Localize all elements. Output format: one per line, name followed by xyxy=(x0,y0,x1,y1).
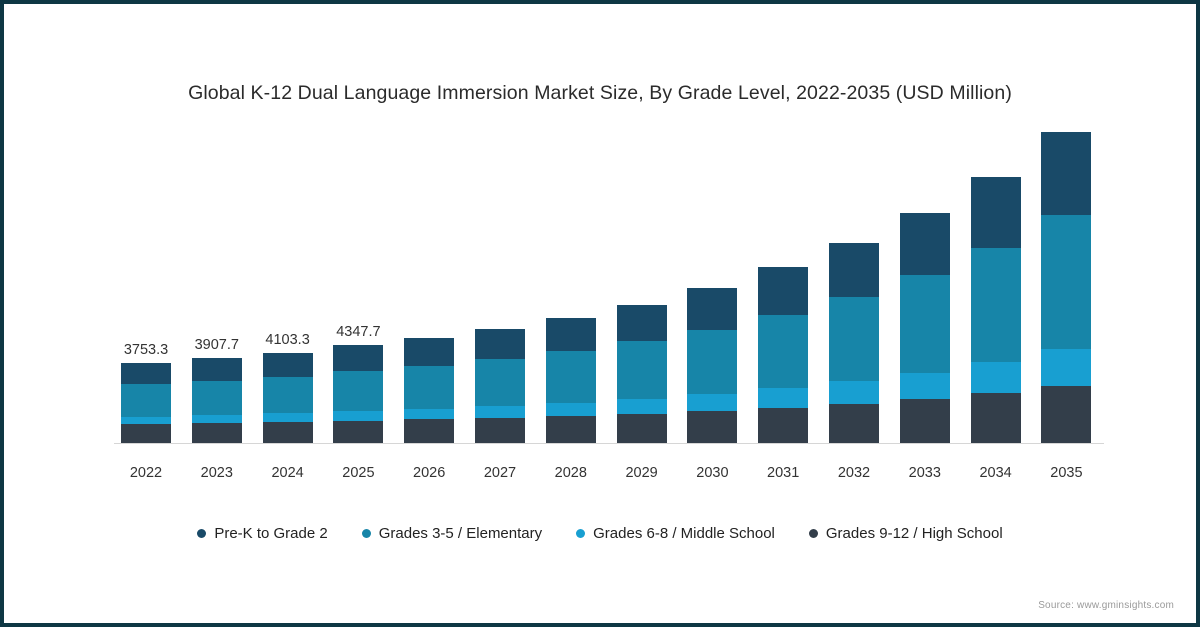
bar-segment[interactable] xyxy=(829,297,879,382)
bar-group-2025[interactable]: 4347.7 xyxy=(333,345,383,444)
bar-segment[interactable] xyxy=(687,330,737,395)
bar-segment[interactable] xyxy=(333,421,383,444)
bar-group-2023[interactable]: 3907.7 xyxy=(192,358,242,444)
bar-segment[interactable] xyxy=(900,275,950,373)
bar-segment[interactable] xyxy=(475,418,525,444)
bar-segment[interactable] xyxy=(971,393,1021,444)
bar-segment[interactable] xyxy=(404,338,454,366)
bar-segment[interactable] xyxy=(192,415,242,423)
x-tick-2022: 2022 xyxy=(111,465,181,481)
bar-segment[interactable] xyxy=(617,414,667,444)
bar-segment[interactable] xyxy=(333,345,383,371)
bar-segment[interactable] xyxy=(546,416,596,444)
bar-segment[interactable] xyxy=(617,341,667,399)
bar-segment[interactable] xyxy=(829,243,879,297)
legend-item-0[interactable]: Pre-K to Grade 2 xyxy=(197,525,327,542)
stacked-bar[interactable] xyxy=(1041,132,1091,444)
stacked-bar[interactable] xyxy=(758,267,808,444)
bar-value-label: 4103.3 xyxy=(265,332,309,348)
page-title: Global K-12 Dual Language Immersion Mark… xyxy=(4,82,1196,105)
stacked-bar[interactable] xyxy=(617,305,667,444)
plot-area: 3753.33907.74103.34347.7 xyxy=(114,124,1104,444)
x-axis-tick-labels: 2022202320242025202620272028202920302031… xyxy=(114,465,1104,487)
bar-group-2027[interactable] xyxy=(475,329,525,444)
bar-segment[interactable] xyxy=(758,388,808,407)
bar-segment[interactable] xyxy=(758,408,808,444)
x-tick-2035: 2035 xyxy=(1031,465,1101,481)
x-tick-2028: 2028 xyxy=(536,465,606,481)
legend-swatch-icon xyxy=(809,529,818,538)
bar-segment[interactable] xyxy=(263,353,313,377)
x-tick-2027: 2027 xyxy=(465,465,535,481)
bar-segment[interactable] xyxy=(829,404,879,444)
chart-frame: Global K-12 Dual Language Immersion Mark… xyxy=(0,0,1200,627)
stacked-bar[interactable] xyxy=(546,318,596,444)
legend-item-3[interactable]: Grades 9-12 / High School xyxy=(809,525,1003,542)
bar-segment[interactable] xyxy=(617,305,667,342)
legend-label: Grades 3-5 / Elementary xyxy=(379,525,542,542)
stacked-bar[interactable]: 4103.3 xyxy=(263,353,313,444)
stacked-bar[interactable] xyxy=(687,288,737,444)
stacked-bar[interactable] xyxy=(475,329,525,444)
bar-group-2028[interactable] xyxy=(546,318,596,444)
x-tick-2023: 2023 xyxy=(182,465,252,481)
bar-segment[interactable] xyxy=(475,406,525,418)
bar-segment[interactable] xyxy=(192,358,242,381)
bar-group-2033[interactable] xyxy=(900,213,950,444)
bar-segment[interactable] xyxy=(546,403,596,416)
chart-legend: Pre-K to Grade 2Grades 3-5 / ElementaryG… xyxy=(4,525,1196,542)
x-tick-2033: 2033 xyxy=(890,465,960,481)
bar-segment[interactable] xyxy=(971,248,1021,362)
stacked-bar[interactable] xyxy=(971,177,1021,444)
x-tick-2025: 2025 xyxy=(323,465,393,481)
bar-segment[interactable] xyxy=(1041,215,1091,349)
bar-group-2029[interactable] xyxy=(617,305,667,444)
legend-label: Grades 6-8 / Middle School xyxy=(593,525,775,542)
bar-segment[interactable] xyxy=(475,359,525,406)
bar-segment[interactable] xyxy=(121,384,171,416)
bar-segment[interactable] xyxy=(1041,349,1091,386)
bar-segment[interactable] xyxy=(900,213,950,275)
stacked-bar[interactable]: 3753.3 xyxy=(121,363,171,444)
bar-segment[interactable] xyxy=(121,363,171,384)
legend-label: Grades 9-12 / High School xyxy=(826,525,1003,542)
bar-group-2024[interactable]: 4103.3 xyxy=(263,353,313,444)
bar-group-2032[interactable] xyxy=(829,243,879,444)
bar-segment[interactable] xyxy=(404,409,454,420)
stacked-bar[interactable] xyxy=(900,213,950,444)
bar-segment[interactable] xyxy=(546,318,596,351)
bar-segment[interactable] xyxy=(971,177,1021,248)
x-tick-2030: 2030 xyxy=(677,465,747,481)
bar-segment[interactable] xyxy=(404,366,454,409)
bar-segment[interactable] xyxy=(121,417,171,425)
bar-segment[interactable] xyxy=(1041,132,1091,215)
stacked-bar[interactable]: 4347.7 xyxy=(333,345,383,444)
x-tick-2032: 2032 xyxy=(819,465,889,481)
bar-segment[interactable] xyxy=(758,315,808,389)
bar-segment[interactable] xyxy=(900,373,950,399)
x-tick-2024: 2024 xyxy=(253,465,323,481)
bar-segment[interactable] xyxy=(192,423,242,444)
bar-segment[interactable] xyxy=(687,411,737,444)
bar-segment[interactable] xyxy=(263,422,313,444)
chart-canvas: Global K-12 Dual Language Immersion Mark… xyxy=(4,4,1196,623)
bar-segment[interactable] xyxy=(687,288,737,329)
bar-segment[interactable] xyxy=(404,419,454,444)
x-tick-2034: 2034 xyxy=(961,465,1031,481)
bar-segment[interactable] xyxy=(971,362,1021,393)
x-tick-2026: 2026 xyxy=(394,465,464,481)
bar-value-label: 4347.7 xyxy=(336,324,380,340)
bar-segment[interactable] xyxy=(333,371,383,410)
stacked-bar[interactable]: 3907.7 xyxy=(192,358,242,444)
bar-segment[interactable] xyxy=(687,394,737,411)
bar-group-2026[interactable] xyxy=(404,338,454,444)
bar-segment[interactable] xyxy=(617,399,667,414)
bar-segment[interactable] xyxy=(121,424,171,444)
bar-group-2030[interactable] xyxy=(687,288,737,444)
legend-item-2[interactable]: Grades 6-8 / Middle School xyxy=(576,525,775,542)
axis-baseline xyxy=(114,443,1104,444)
bar-segment[interactable] xyxy=(263,377,313,413)
bar-segment[interactable] xyxy=(829,381,879,404)
bar-group-2022[interactable]: 3753.3 xyxy=(121,363,171,444)
bar-segment[interactable] xyxy=(1041,386,1091,444)
legend-swatch-icon xyxy=(197,529,206,538)
bar-segment[interactable] xyxy=(192,381,242,415)
bar-group-2035[interactable] xyxy=(1041,132,1091,444)
legend-swatch-icon xyxy=(362,529,371,538)
x-tick-2029: 2029 xyxy=(607,465,677,481)
stacked-bar[interactable] xyxy=(404,338,454,444)
bar-segment[interactable] xyxy=(475,329,525,359)
legend-label: Pre-K to Grade 2 xyxy=(214,525,327,542)
legend-swatch-icon xyxy=(576,529,585,538)
bar-segment[interactable] xyxy=(263,413,313,422)
bar-segment[interactable] xyxy=(758,267,808,314)
bar-segment[interactable] xyxy=(333,411,383,421)
bar-value-label: 3907.7 xyxy=(195,337,239,353)
bar-value-label: 3753.3 xyxy=(124,342,168,358)
bar-segment[interactable] xyxy=(900,399,950,444)
bar-segment[interactable] xyxy=(546,351,596,403)
stacked-bar[interactable] xyxy=(829,243,879,444)
legend-item-1[interactable]: Grades 3-5 / Elementary xyxy=(362,525,542,542)
bar-group-2031[interactable] xyxy=(758,267,808,444)
bar-group-2034[interactable] xyxy=(971,177,1021,444)
source-attribution: Source: www.gminsights.com xyxy=(1038,600,1174,611)
x-tick-2031: 2031 xyxy=(748,465,818,481)
